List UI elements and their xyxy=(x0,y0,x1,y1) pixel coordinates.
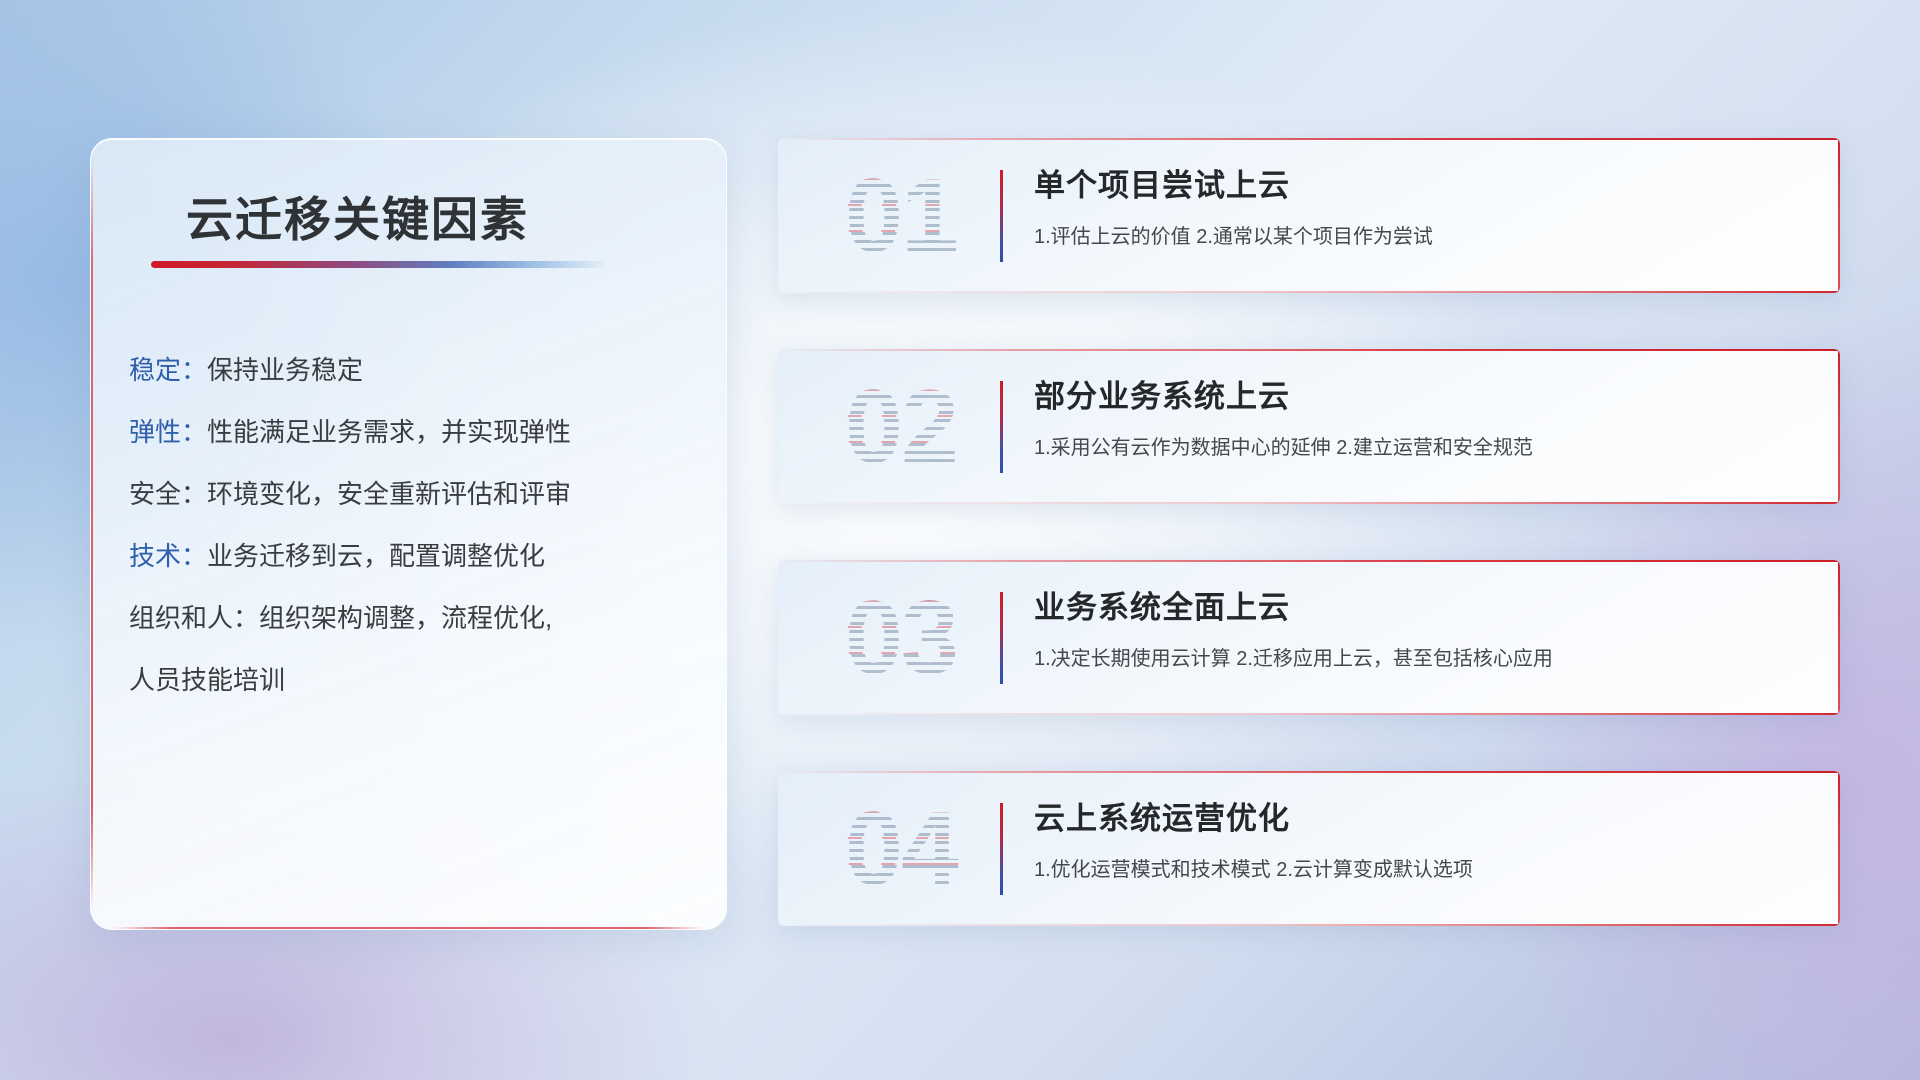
card-number-watermark-tint: 04 xyxy=(806,785,996,913)
card-right-accent xyxy=(1838,349,1840,504)
card-bottom-accent xyxy=(778,502,1840,504)
stage-cards-list: 01 01 单个项目尝试上云 1.评估上云的价值 2.通常以某个项目作为尝试 0… xyxy=(778,138,1840,982)
list-item: 安全：环境变化，安全重新评估和评审 xyxy=(129,463,700,525)
list-item-label: 弹性： xyxy=(129,417,207,447)
card-divider-bar xyxy=(1000,592,1003,684)
card-top-accent xyxy=(778,560,1840,562)
list-item-value: 环境变化，安全重新评估和评审 xyxy=(207,479,571,509)
card-right-accent xyxy=(1838,138,1840,293)
panel-title-underline xyxy=(151,261,606,268)
card-subtitle: 1.优化运营模式和技术模式 2.云计算变成默认选项 xyxy=(1034,853,1473,882)
panel-title: 云迁移关键因素 xyxy=(186,181,529,250)
stage-card-04[interactable]: 04 04 云上系统运营优化 1.优化运营模式和技术模式 2.云计算变成默认选项 xyxy=(778,771,1840,926)
panel-left-accent-border xyxy=(91,157,93,911)
list-item-value: 业务迁移到云，配置调整优化 xyxy=(207,541,545,571)
list-item-value: 性能满足业务需求，并实现弹性 xyxy=(207,417,571,447)
card-bottom-accent xyxy=(778,291,1840,293)
card-subtitle: 1.采用公有云作为数据中心的延伸 2.建立运营和安全规范 xyxy=(1034,431,1533,460)
card-divider-bar xyxy=(1000,803,1003,895)
list-item: 稳定：保持业务稳定 xyxy=(129,339,700,401)
card-divider-bar xyxy=(1000,170,1003,262)
list-item: 技术：业务迁移到云，配置调整优化 xyxy=(129,525,700,587)
card-subtitle: 1.决定长期使用云计算 2.迁移应用上云，甚至包括核心应用 xyxy=(1034,642,1553,671)
card-number-watermark-tint: 01 xyxy=(806,152,996,280)
card-right-accent xyxy=(1838,560,1840,715)
card-top-accent xyxy=(778,349,1840,351)
list-item-label: 组织和人： xyxy=(129,603,259,633)
stage-card-03[interactable]: 03 03 业务系统全面上云 1.决定长期使用云计算 2.迁移应用上云，甚至包括… xyxy=(778,560,1840,715)
card-title: 单个项目尝试上云 xyxy=(1034,160,1290,205)
card-subtitle: 1.评估上云的价值 2.通常以某个项目作为尝试 xyxy=(1034,220,1433,249)
list-item-value: 人员技能培训 xyxy=(129,665,285,695)
list-item-label: 技术： xyxy=(129,541,207,571)
list-item-value: 保持业务稳定 xyxy=(207,355,363,385)
card-title: 云上系统运营优化 xyxy=(1034,793,1290,838)
key-factors-list: 稳定：保持业务稳定 弹性：性能满足业务需求，并实现弹性 安全：环境变化，安全重新… xyxy=(129,339,700,711)
key-factors-panel: 云迁移关键因素 稳定：保持业务稳定 弹性：性能满足业务需求，并实现弹性 安全：环… xyxy=(90,138,727,930)
card-title: 部分业务系统上云 xyxy=(1034,371,1290,416)
list-item: 组织和人：组织架构调整，流程优化, xyxy=(129,587,700,649)
card-divider-bar xyxy=(1000,381,1003,473)
list-item: 弹性：性能满足业务需求，并实现弹性 xyxy=(129,401,700,463)
card-right-accent xyxy=(1838,771,1840,926)
stage-card-01[interactable]: 01 01 单个项目尝试上云 1.评估上云的价值 2.通常以某个项目作为尝试 xyxy=(778,138,1840,293)
stage-card-02[interactable]: 02 02 部分业务系统上云 1.采用公有云作为数据中心的延伸 2.建立运营和安… xyxy=(778,349,1840,504)
list-item-label: 安全： xyxy=(129,479,207,509)
card-bottom-accent xyxy=(778,924,1840,926)
slide-canvas: 云迁移关键因素 稳定：保持业务稳定 弹性：性能满足业务需求，并实现弹性 安全：环… xyxy=(0,0,1920,1080)
list-item-continuation: 人员技能培训 xyxy=(129,649,700,711)
list-item-value: 组织架构调整，流程优化, xyxy=(259,603,552,633)
list-item-label: 稳定： xyxy=(129,355,207,385)
card-top-accent xyxy=(778,138,1840,140)
card-number-watermark-tint: 02 xyxy=(806,363,996,491)
panel-bottom-accent-border xyxy=(113,927,704,929)
card-bottom-accent xyxy=(778,713,1840,715)
card-top-accent xyxy=(778,771,1840,773)
card-number-watermark-tint: 03 xyxy=(806,574,996,702)
card-title: 业务系统全面上云 xyxy=(1034,582,1290,627)
